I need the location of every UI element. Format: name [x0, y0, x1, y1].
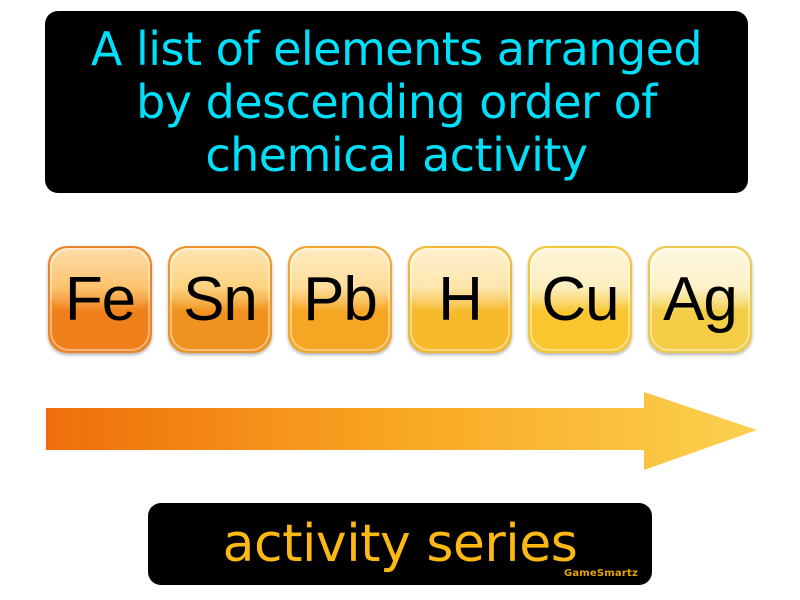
definition-line-1: A list of elements arranged — [91, 23, 702, 76]
element-symbol-cu: Cu — [541, 269, 618, 331]
element-tile-ag[interactable]: Ag — [648, 246, 752, 353]
element-tile-fe[interactable]: Fe — [48, 246, 152, 353]
activity-direction-arrow-icon — [40, 386, 762, 476]
element-tile-sn[interactable]: Sn — [168, 246, 272, 353]
element-tile-pb[interactable]: Pb — [288, 246, 392, 353]
arrow-shape — [46, 392, 757, 470]
term-label: activity series — [223, 516, 578, 572]
watermark-text: GameSmartz — [564, 568, 638, 579]
definition-card: A list of elements arranged by descendin… — [45, 11, 748, 193]
element-symbol-ag: Ag — [663, 269, 737, 331]
definition-line-2: by descending order of — [136, 76, 657, 129]
element-symbol-pb: Pb — [303, 269, 377, 331]
element-tile-row: Fe Sn Pb H Cu Ag — [48, 246, 752, 353]
element-tile-cu[interactable]: Cu — [528, 246, 632, 353]
term-card: activity series GameSmartz — [148, 503, 652, 585]
element-tile-h[interactable]: H — [408, 246, 512, 353]
definition-line-3: chemical activity — [205, 129, 587, 182]
element-symbol-h: H — [438, 269, 482, 331]
element-symbol-sn: Sn — [183, 269, 257, 331]
element-symbol-fe: Fe — [65, 269, 135, 331]
